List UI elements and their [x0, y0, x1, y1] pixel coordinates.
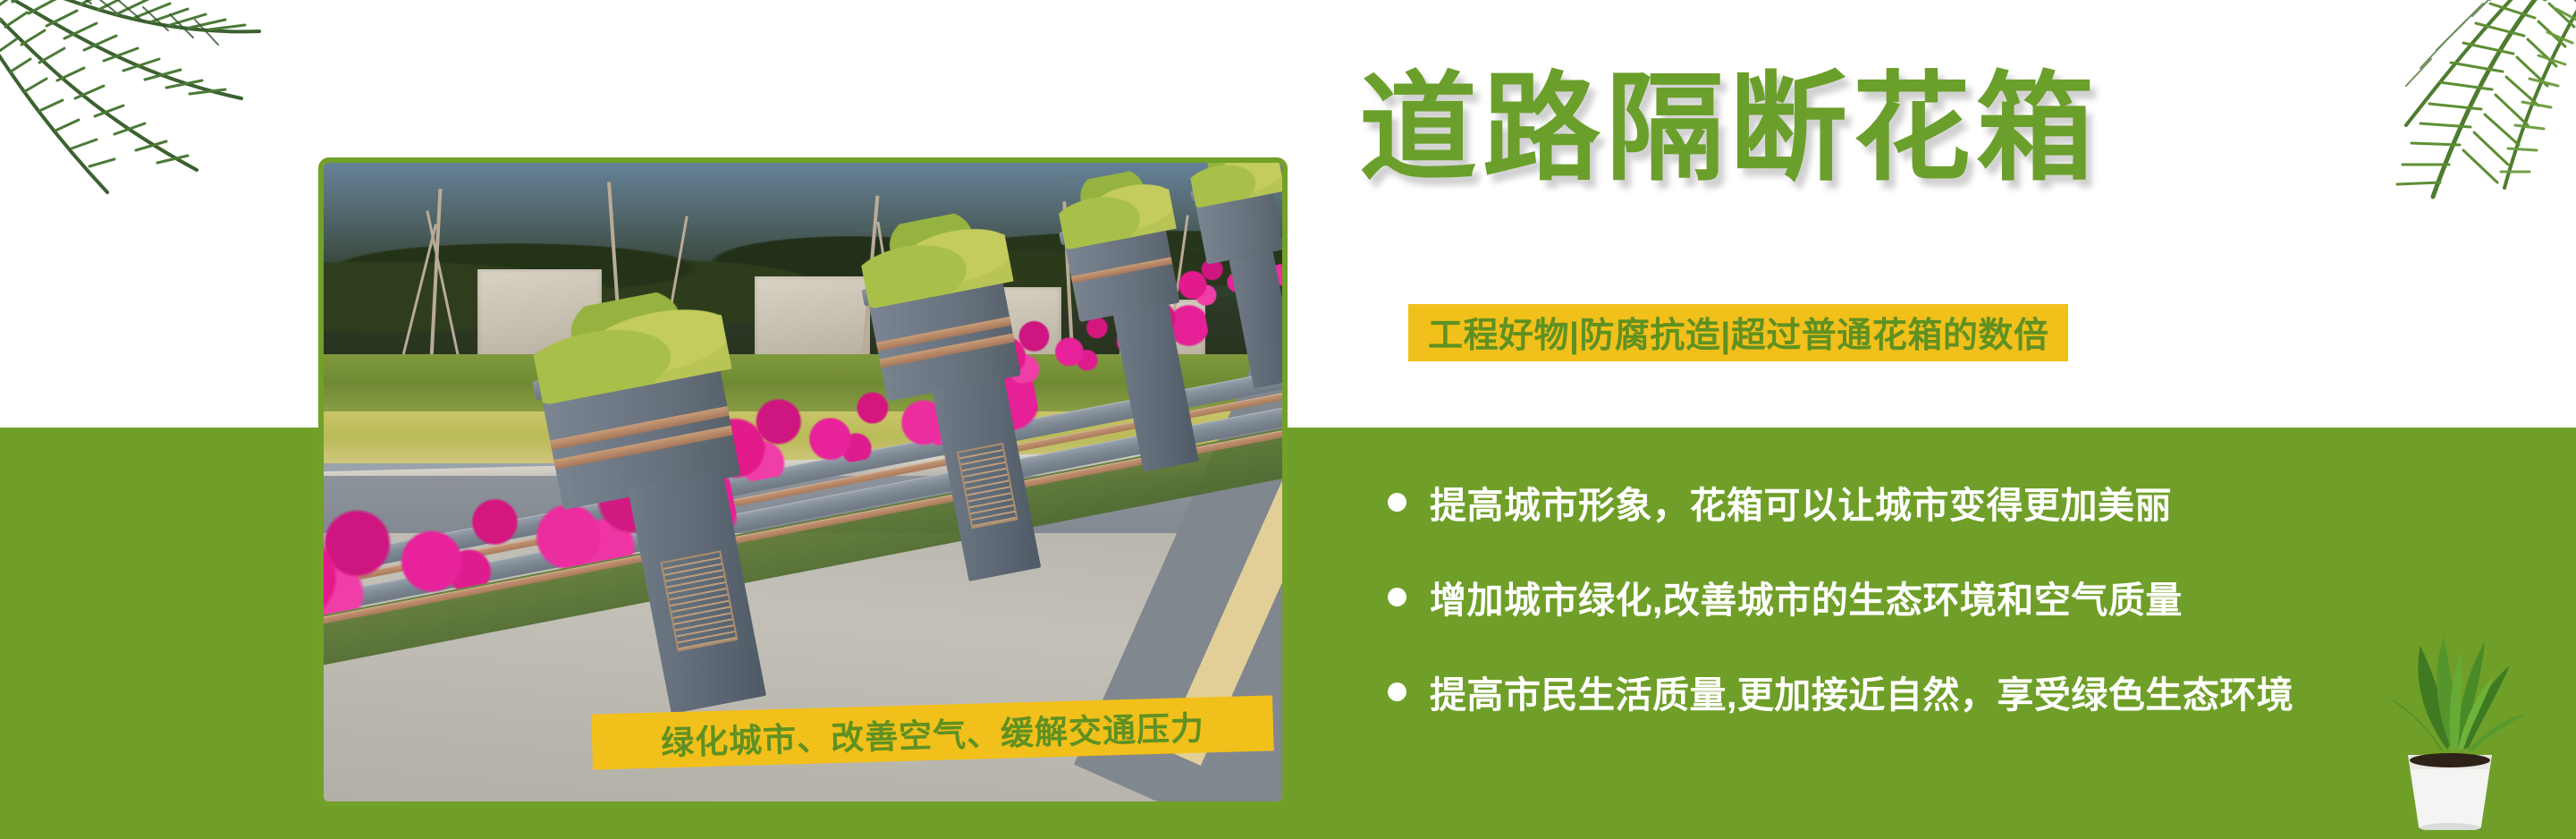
bullet-dot-icon [1388, 682, 1406, 701]
promo-banner: 绿化城市、改善空气、缓解交通压力 道路隔断花箱 工程好物|防腐抗造|超过普通花箱… [0, 0, 2576, 839]
photo-caption-text: 绿化城市、改善空气、缓解交通压力 [660, 701, 1204, 765]
list-item-label: 提高市民生活质量,更加接近自然，享受绿色生态环境 [1430, 665, 2293, 718]
list-item-label: 增加城市绿化,改善城市的生态环境和空气质量 [1430, 570, 2183, 623]
bullet-dot-icon [1388, 588, 1406, 606]
bullet-dot-icon [1388, 493, 1406, 512]
subtitle-text: 工程好物|防腐抗造|超过普通花箱的数倍 [1428, 308, 2048, 358]
list-item: 提高城市形象，花箱可以让城市变得更加美丽 [1388, 454, 2550, 549]
potted-plant-icon [2358, 590, 2542, 830]
subtitle-badge: 工程好物|防腐抗造|超过普通花箱的数倍 [1408, 304, 2068, 361]
list-item-label: 提高城市形象，花箱可以让城市变得更加美丽 [1430, 475, 2172, 529]
palm-leaf-icon [2299, 0, 2576, 206]
page-title: 道路隔断花箱 [1359, 70, 2099, 188]
palm-leaf-icon [0, 0, 268, 197]
